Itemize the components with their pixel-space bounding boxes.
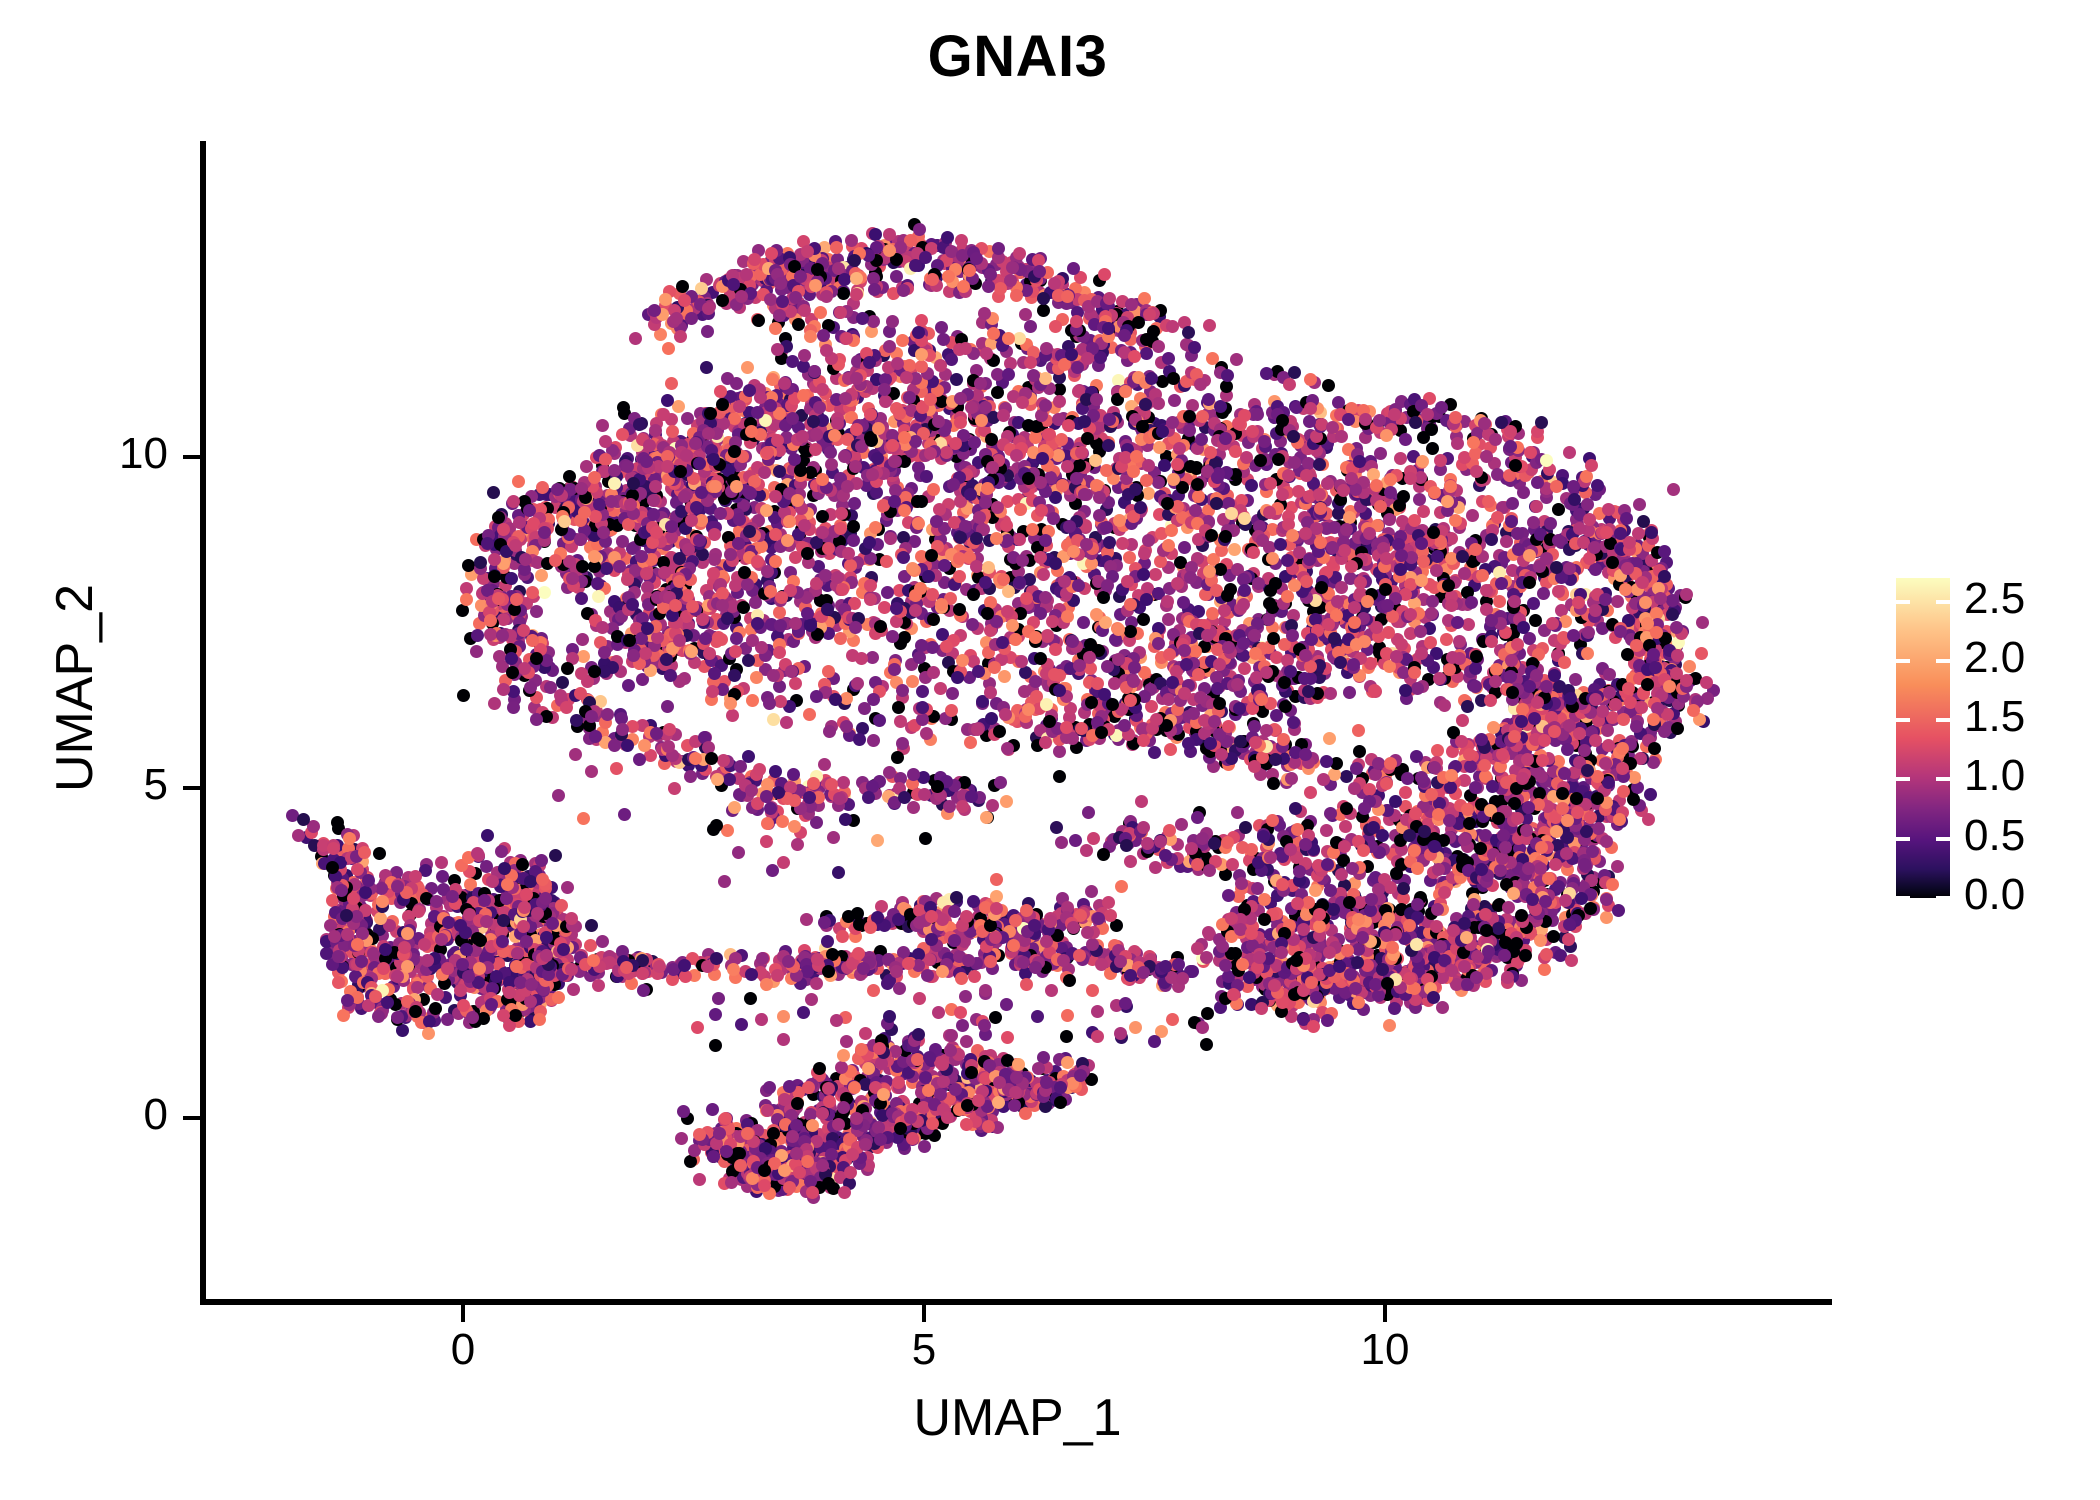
scatter-point bbox=[588, 550, 601, 563]
scatter-point bbox=[1162, 613, 1175, 626]
scatter-point bbox=[1010, 289, 1023, 302]
scatter-point bbox=[831, 417, 844, 430]
scatter-point bbox=[848, 254, 861, 267]
scatter-point bbox=[1310, 522, 1323, 535]
scatter-point bbox=[666, 425, 679, 438]
scatter-point bbox=[830, 241, 843, 254]
scatter-point bbox=[851, 677, 864, 690]
scatter-point bbox=[1098, 268, 1111, 281]
scatter-point bbox=[1161, 595, 1174, 608]
scatter-point bbox=[1224, 583, 1237, 596]
scatter-point bbox=[1466, 509, 1479, 522]
scatter-point bbox=[831, 571, 844, 584]
scatter-point bbox=[1183, 410, 1196, 423]
scatter-point bbox=[1527, 597, 1540, 610]
scatter-point bbox=[1002, 368, 1015, 381]
scatter-point bbox=[575, 482, 588, 495]
scatter-point bbox=[1326, 541, 1339, 554]
scatter-point bbox=[855, 652, 868, 665]
scatter-point bbox=[1097, 591, 1110, 604]
scatter-point bbox=[596, 419, 609, 432]
scatter-point bbox=[1161, 497, 1174, 510]
scatter-point bbox=[510, 593, 523, 606]
scatter-point bbox=[870, 486, 883, 499]
scatter-point bbox=[980, 347, 993, 360]
scatter-point bbox=[640, 455, 653, 468]
scatter-point bbox=[1426, 442, 1439, 455]
scatter-point bbox=[880, 555, 893, 568]
scatter-point bbox=[576, 633, 589, 646]
scatter-point bbox=[915, 495, 928, 508]
scatter-point bbox=[1090, 608, 1103, 621]
scatter-point bbox=[915, 314, 928, 327]
scatter-point bbox=[1322, 379, 1335, 392]
scatter-point bbox=[488, 570, 501, 583]
scatter-point bbox=[1203, 319, 1216, 332]
scatter-plot-panel bbox=[205, 141, 1830, 1302]
scatter-point bbox=[801, 547, 814, 560]
scatter-point bbox=[674, 465, 687, 478]
scatter-point bbox=[828, 429, 841, 442]
scatter-point bbox=[864, 579, 877, 592]
scatter-point bbox=[649, 424, 662, 437]
scatter-point bbox=[838, 273, 851, 286]
scatter-point bbox=[922, 570, 935, 583]
scatter-point bbox=[801, 245, 814, 258]
scatter-point bbox=[896, 334, 909, 347]
scatter-point bbox=[991, 501, 1004, 514]
scatter-point bbox=[1178, 541, 1191, 554]
scatter-point bbox=[940, 640, 953, 653]
scatter-point bbox=[1103, 536, 1116, 549]
scatter-point bbox=[1070, 315, 1083, 328]
scatter-point bbox=[984, 268, 997, 281]
scatter-point bbox=[681, 412, 694, 425]
scatter-point bbox=[1465, 596, 1478, 609]
scatter-point bbox=[869, 521, 882, 534]
scatter-point bbox=[1321, 477, 1334, 490]
scatter-point bbox=[1288, 579, 1301, 592]
scatter-point bbox=[951, 671, 964, 684]
scatter-point bbox=[840, 332, 853, 345]
scatter-point bbox=[616, 535, 629, 548]
scatter-point bbox=[1393, 499, 1406, 512]
scatter-point bbox=[863, 356, 876, 369]
scatter-point bbox=[1383, 513, 1396, 526]
scatter-point bbox=[708, 528, 721, 541]
scatter-point bbox=[964, 736, 977, 749]
scatter-point bbox=[715, 633, 728, 646]
scatter-point bbox=[954, 416, 967, 429]
scatter-point bbox=[791, 494, 804, 507]
scatter-point bbox=[1246, 425, 1259, 438]
scatter-point bbox=[803, 708, 816, 721]
scatter-point bbox=[526, 634, 539, 647]
scatter-point bbox=[821, 603, 834, 616]
scatter-point bbox=[678, 490, 691, 503]
scatter-point bbox=[909, 604, 922, 617]
scatter-point bbox=[456, 604, 469, 617]
scatter-point bbox=[953, 570, 966, 583]
scatter-point bbox=[924, 447, 937, 460]
scatter-point bbox=[673, 634, 686, 647]
scatter-point bbox=[1470, 465, 1483, 478]
scatter-point bbox=[1394, 452, 1407, 465]
scatter-point bbox=[1142, 459, 1155, 472]
scatter-point bbox=[1195, 433, 1208, 446]
scatter-point bbox=[797, 389, 810, 402]
scatter-point bbox=[1442, 579, 1455, 592]
scatter-point bbox=[737, 601, 750, 614]
scatter-point bbox=[1404, 472, 1417, 485]
scatter-point bbox=[1014, 503, 1027, 516]
scatter-point bbox=[1205, 529, 1218, 542]
scatter-point bbox=[1214, 563, 1227, 576]
scatter-point bbox=[1061, 290, 1074, 303]
scatter-point bbox=[965, 401, 978, 414]
scatter-point bbox=[1416, 455, 1429, 468]
scatter-point bbox=[1563, 562, 1576, 575]
scatter-point bbox=[1196, 410, 1209, 423]
scatter-point bbox=[975, 414, 988, 427]
scatter-point bbox=[591, 577, 604, 590]
scatter-point bbox=[1154, 555, 1167, 568]
scatter-point bbox=[785, 665, 798, 678]
scatter-point bbox=[938, 559, 951, 572]
scatter-point bbox=[1485, 533, 1498, 546]
scatter-point bbox=[816, 473, 829, 486]
scatter-point bbox=[728, 669, 741, 682]
scatter-point bbox=[1039, 372, 1052, 385]
scatter-point bbox=[626, 598, 639, 611]
scatter-point bbox=[1124, 598, 1137, 611]
scatter-point bbox=[507, 495, 520, 508]
scatter-point bbox=[640, 567, 653, 580]
scatter-point bbox=[1394, 563, 1407, 576]
scatter-point bbox=[674, 330, 687, 343]
scatter-point bbox=[1558, 656, 1571, 669]
scatter-point bbox=[1152, 637, 1165, 650]
scatter-point bbox=[1456, 550, 1469, 563]
scatter-point bbox=[1140, 474, 1153, 487]
scatter-point bbox=[752, 314, 765, 327]
scatter-point bbox=[804, 619, 817, 632]
scatter-point bbox=[1026, 523, 1039, 536]
scatter-point bbox=[1395, 638, 1408, 651]
scatter-point bbox=[1374, 447, 1387, 460]
scatter-point bbox=[984, 686, 997, 699]
scatter-point bbox=[881, 586, 894, 599]
scatter-point bbox=[1001, 534, 1014, 547]
scatter-point bbox=[1204, 446, 1217, 459]
scatter-point bbox=[1527, 516, 1540, 529]
scatter-point bbox=[709, 480, 722, 493]
scatter-point bbox=[741, 361, 754, 374]
scatter-point bbox=[1156, 425, 1169, 438]
scatter-point bbox=[530, 652, 543, 665]
scatter-point bbox=[1260, 367, 1273, 380]
scatter-point bbox=[706, 685, 719, 698]
scatter-point bbox=[616, 723, 629, 736]
scatter-point bbox=[850, 423, 863, 436]
scatter-point bbox=[783, 515, 796, 528]
scatter-point bbox=[593, 498, 606, 511]
scatter-point bbox=[1142, 534, 1155, 547]
scatter-point bbox=[1230, 353, 1243, 366]
scatter-point bbox=[1061, 610, 1074, 623]
scatter-point bbox=[1102, 322, 1115, 335]
scatter-point bbox=[792, 318, 805, 331]
scatter-point bbox=[1443, 663, 1456, 676]
scatter-point bbox=[1430, 564, 1443, 577]
scatter-point bbox=[789, 617, 802, 630]
scatter-point bbox=[1013, 247, 1026, 260]
scatter-point bbox=[1171, 458, 1184, 471]
scatter-point bbox=[1245, 479, 1258, 492]
scatter-point bbox=[1037, 304, 1050, 317]
scatter-point bbox=[1337, 484, 1350, 497]
scatter-point bbox=[1334, 656, 1347, 669]
scatter-point bbox=[643, 439, 656, 452]
scatter-point bbox=[1194, 378, 1207, 391]
scatter-point bbox=[994, 282, 1007, 295]
scatter-point bbox=[978, 307, 991, 320]
scatter-point bbox=[701, 325, 714, 338]
scatter-point bbox=[738, 566, 751, 579]
scatter-point bbox=[1354, 576, 1367, 589]
scatter-point bbox=[1132, 316, 1145, 329]
scatter-point bbox=[1013, 533, 1026, 546]
scatter-point bbox=[1300, 469, 1313, 482]
scatter-point bbox=[689, 437, 702, 450]
scatter-point bbox=[1411, 682, 1424, 695]
scatter-point bbox=[751, 555, 764, 568]
scatter-point bbox=[926, 273, 939, 286]
scatter-point bbox=[1081, 352, 1094, 365]
scatter-point bbox=[1546, 617, 1559, 630]
scatter-point bbox=[773, 465, 786, 478]
scatter-point bbox=[1121, 575, 1134, 588]
scatter-point bbox=[1128, 350, 1141, 363]
scatter-point bbox=[912, 517, 925, 530]
scatter-point bbox=[959, 342, 972, 355]
scatter-point bbox=[641, 622, 654, 635]
scatter-point bbox=[1116, 537, 1129, 550]
scatter-point bbox=[1184, 460, 1197, 473]
scatter-point bbox=[850, 288, 863, 301]
scatter-point bbox=[665, 377, 678, 390]
scatter-point bbox=[972, 665, 985, 678]
scatter-point bbox=[538, 586, 551, 599]
scatter-point bbox=[1417, 555, 1430, 568]
scatter-point bbox=[823, 725, 836, 738]
scatter-point bbox=[746, 694, 759, 707]
scatter-point bbox=[686, 600, 699, 613]
scatter-point bbox=[764, 399, 777, 412]
scatter-point bbox=[1202, 393, 1215, 406]
scatter-point bbox=[647, 508, 660, 521]
scatter-point bbox=[1426, 595, 1439, 608]
scatter-point bbox=[1130, 450, 1143, 463]
scatter-point bbox=[829, 693, 842, 706]
scatter-point bbox=[1374, 500, 1387, 513]
scatter-point bbox=[1445, 599, 1458, 612]
scatter-point bbox=[556, 676, 569, 689]
scatter-point bbox=[1299, 527, 1312, 540]
scatter-point bbox=[1589, 563, 1602, 576]
scatter-point bbox=[530, 713, 543, 726]
scatter-point bbox=[946, 687, 959, 700]
scatter-point bbox=[1138, 547, 1151, 560]
scatter-point bbox=[1537, 587, 1550, 600]
scatter-point bbox=[997, 409, 1010, 422]
scatter-point bbox=[487, 486, 500, 499]
scatter-point bbox=[1093, 491, 1106, 504]
scatter-point bbox=[850, 372, 863, 385]
scatter-point bbox=[1282, 469, 1295, 482]
scatter-point bbox=[1544, 517, 1557, 530]
scatter-point bbox=[1065, 348, 1078, 361]
scatter-point bbox=[884, 532, 897, 545]
scatter-point bbox=[999, 708, 1012, 721]
scatter-point bbox=[1266, 552, 1279, 565]
scatter-point bbox=[1158, 459, 1171, 472]
scatter-point bbox=[610, 762, 623, 775]
scatter-point bbox=[1081, 432, 1094, 445]
scatter-point bbox=[1075, 446, 1088, 459]
scatter-point bbox=[1123, 551, 1136, 564]
scatter-point bbox=[1162, 539, 1175, 552]
scatter-point bbox=[786, 412, 799, 425]
scatter-point bbox=[932, 415, 945, 428]
scatter-point bbox=[707, 453, 720, 466]
scatter-point bbox=[665, 520, 678, 533]
scatter-point bbox=[708, 667, 721, 680]
scatter-point bbox=[1024, 320, 1037, 333]
scatter-point bbox=[865, 434, 878, 447]
scatter-point bbox=[974, 377, 987, 390]
scatter-point bbox=[926, 588, 939, 601]
scatter-point bbox=[991, 386, 1004, 399]
scatter-point bbox=[538, 526, 551, 539]
scatter-point bbox=[813, 401, 826, 414]
scatter-point bbox=[848, 497, 861, 510]
scatter-point bbox=[927, 483, 940, 496]
scatter-point bbox=[1027, 369, 1040, 382]
scatter-point bbox=[808, 365, 821, 378]
scatter-point bbox=[1431, 550, 1444, 563]
scatter-point bbox=[569, 748, 582, 761]
scatter-point bbox=[1046, 615, 1059, 628]
scatter-point bbox=[981, 607, 994, 620]
scatter-point bbox=[1469, 543, 1482, 556]
scatter-point bbox=[703, 647, 716, 660]
scatter-point bbox=[721, 612, 734, 625]
scatter-point bbox=[763, 697, 776, 710]
scatter-point bbox=[798, 349, 811, 362]
scatter-point bbox=[1137, 613, 1150, 626]
scatter-point bbox=[872, 422, 885, 435]
scatter-point bbox=[838, 450, 851, 463]
scatter-point bbox=[488, 697, 501, 710]
scatter-point bbox=[1090, 393, 1103, 406]
scatter-point bbox=[1152, 397, 1165, 410]
scatter-point bbox=[1182, 326, 1195, 339]
scatter-point bbox=[913, 223, 926, 236]
scatter-point bbox=[996, 636, 1009, 649]
scatter-point bbox=[898, 504, 911, 517]
scatter-point bbox=[570, 714, 583, 727]
scatter-point bbox=[750, 671, 763, 684]
scatter-point bbox=[1009, 633, 1022, 646]
scatter-point bbox=[621, 573, 634, 586]
scatter-point bbox=[773, 606, 786, 619]
scatter-point bbox=[524, 681, 537, 694]
scatter-point bbox=[837, 287, 850, 300]
scatter-point bbox=[1384, 486, 1397, 499]
scatter-point bbox=[1343, 511, 1356, 524]
scatter-point bbox=[621, 739, 634, 752]
scatter-point bbox=[942, 270, 955, 283]
scatter-point bbox=[1119, 385, 1132, 398]
scatter-point bbox=[1055, 433, 1068, 446]
scatter-point bbox=[847, 534, 860, 547]
scatter-point bbox=[716, 294, 729, 307]
scatter-point bbox=[1251, 408, 1264, 421]
scatter-point bbox=[856, 312, 869, 325]
scatter-point bbox=[1149, 568, 1162, 581]
scatter-point bbox=[1272, 453, 1285, 466]
scatter-point bbox=[1304, 373, 1317, 386]
scatter-point bbox=[1152, 340, 1165, 353]
scatter-point bbox=[849, 621, 862, 634]
scatter-point bbox=[924, 393, 937, 406]
scatter-point bbox=[836, 583, 849, 596]
scatter-point bbox=[1039, 591, 1052, 604]
scatter-point bbox=[622, 679, 635, 692]
scatter-point bbox=[1138, 292, 1151, 305]
scatter-point bbox=[1036, 452, 1049, 465]
scatter-point bbox=[1037, 292, 1050, 305]
scatter-point bbox=[1228, 543, 1241, 556]
scatter-point bbox=[1413, 493, 1426, 506]
scatter-point bbox=[1582, 626, 1595, 639]
scatter-point bbox=[940, 446, 953, 459]
scatter-point bbox=[1491, 511, 1504, 524]
scatter-point bbox=[927, 613, 940, 626]
scatter-point bbox=[1440, 633, 1453, 646]
scatter-point bbox=[648, 304, 661, 317]
scatter-point bbox=[816, 383, 829, 396]
scatter-point bbox=[1070, 472, 1083, 485]
scatter-point bbox=[1288, 366, 1301, 379]
scatter-point bbox=[982, 561, 995, 574]
scatter-point bbox=[1438, 699, 1451, 712]
scatter-point bbox=[1221, 369, 1234, 382]
scatter-point bbox=[941, 231, 954, 244]
scatter-point bbox=[1103, 292, 1116, 305]
scatter-point bbox=[888, 455, 901, 468]
scatter-point bbox=[1162, 352, 1175, 365]
scatter-point bbox=[920, 470, 933, 483]
figure-canvas: GNAI3 0510 0510 UMAP_1 UMAP_2 2.52.01.51… bbox=[0, 0, 2100, 1500]
scatter-point bbox=[914, 582, 927, 595]
scatter-point bbox=[1002, 332, 1015, 345]
scatter-point bbox=[605, 495, 618, 508]
scatter-point bbox=[780, 716, 793, 729]
scatter-point bbox=[1029, 675, 1042, 688]
scatter-point bbox=[967, 588, 980, 601]
